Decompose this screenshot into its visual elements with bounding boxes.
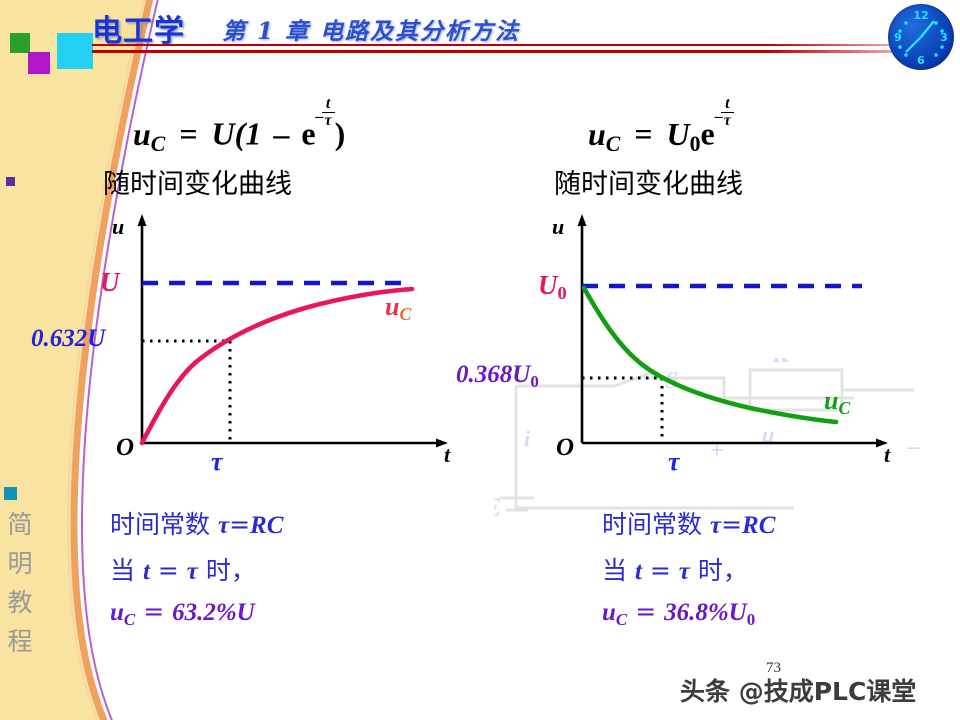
left-formula-rhs-post: ) bbox=[335, 116, 346, 152]
left-note-1-sym: τ bbox=[218, 512, 229, 539]
left-curve-label-u: u bbox=[385, 292, 399, 321]
clock-num-12: 12 bbox=[913, 9, 928, 22]
right-note-2-eq: = bbox=[650, 556, 671, 585]
sidebar-char-1: 简 bbox=[0, 505, 40, 544]
right-chart: u t O bbox=[540, 208, 900, 468]
wm-label-E: E bbox=[494, 493, 501, 522]
left-formula-eq: = bbox=[179, 116, 197, 152]
right-chart-curve bbox=[584, 288, 836, 422]
left-formula: uC = U(1 – e–tτ) bbox=[133, 100, 345, 157]
right-chart-y-arrow bbox=[578, 214, 587, 226]
right-formula-e: e bbox=[701, 116, 715, 152]
right-value-main: 0.368U bbox=[456, 361, 530, 388]
right-asym-U: U bbox=[538, 270, 558, 300]
right-note-2-sym: t bbox=[635, 558, 642, 585]
right-chart-x-label: t bbox=[884, 442, 890, 468]
left-curve-label-sub: C bbox=[399, 304, 411, 324]
channel-watermark: 头条 @技成PLC课堂 bbox=[680, 672, 916, 708]
decor-square-cyan bbox=[57, 33, 93, 69]
slide-canvas: 简 明 教 程 电工学 第 1 章 电路及其分析方法 12 3 6 9 bbox=[0, 0, 960, 720]
right-chart-origin-label: O bbox=[556, 434, 574, 462]
right-note-1-rhs: RC bbox=[742, 512, 775, 539]
left-note-1-cn: 时间常数 bbox=[110, 510, 210, 539]
left-note-2-eq: = bbox=[158, 556, 179, 585]
right-chart-asymptote-label: U0 bbox=[538, 270, 567, 304]
sidebar-char-3: 教 bbox=[0, 583, 40, 622]
left-chart-x-label: t bbox=[444, 442, 450, 468]
header-rule-bottom bbox=[92, 50, 960, 53]
left-note-3-rhs: 63.2%U bbox=[172, 599, 255, 626]
right-formula-eq: = bbox=[634, 116, 652, 152]
left-caption: 随时间变化曲线 bbox=[103, 162, 292, 201]
left-note-2-sym: t bbox=[143, 558, 150, 585]
right-note-3: uC = 36.8%U0 bbox=[602, 597, 755, 630]
bullet-square-teal bbox=[4, 487, 17, 500]
left-note-1: 时间常数 τ=RC bbox=[110, 505, 283, 541]
right-note-1-cn: 时间常数 bbox=[602, 510, 702, 539]
header-rule-top bbox=[92, 44, 960, 46]
right-chart-value-label: 0.368U0 bbox=[456, 361, 539, 392]
right-note-1-eq: = bbox=[721, 510, 742, 539]
decor-square-green bbox=[10, 33, 30, 53]
right-formula-rhs-pre: U0 bbox=[667, 116, 701, 152]
left-note-3-lhs: uC bbox=[110, 599, 135, 626]
clock-num-3: 3 bbox=[940, 31, 948, 44]
clock-icon: 12 3 6 9 bbox=[888, 4, 954, 70]
clock-num-6: 6 bbox=[917, 54, 925, 67]
right-curve-label-u: u bbox=[824, 386, 838, 415]
sidebar-vertical-title: 简 明 教 程 bbox=[0, 505, 40, 661]
wm-label-minus: – bbox=[907, 434, 920, 460]
left-note-1-rhs: RC bbox=[250, 512, 283, 539]
sidebar-char-4: 程 bbox=[0, 622, 40, 661]
right-curve-label-sub: C bbox=[838, 398, 850, 418]
left-note-1-eq: = bbox=[229, 510, 250, 539]
right-note-3-eq: = bbox=[635, 597, 656, 626]
right-chart-tau-label: τ bbox=[668, 447, 680, 477]
right-value-sub: 0 bbox=[530, 372, 539, 391]
right-note-2-rhs: τ bbox=[679, 558, 690, 585]
left-note-2-rhs: τ bbox=[187, 558, 198, 585]
right-formula-uc: uC bbox=[588, 116, 620, 152]
left-chart-origin-label: O bbox=[116, 434, 134, 462]
left-formula-exponent: tτ bbox=[322, 96, 335, 130]
left-formula-exp-den: τ bbox=[322, 112, 335, 129]
right-chart-y-label: u bbox=[552, 214, 564, 240]
right-note-1: 时间常数 τ=RC bbox=[602, 505, 775, 541]
left-chart: u t O bbox=[100, 208, 460, 468]
left-note-2-cn: 当 bbox=[110, 556, 135, 585]
left-formula-minus: – bbox=[273, 116, 289, 152]
left-chart-curve-label: uC bbox=[385, 292, 411, 325]
left-formula-uc: uC bbox=[133, 116, 165, 152]
left-formula-rhs-pre: U(1 bbox=[212, 116, 262, 152]
wm-label-i: i bbox=[524, 426, 531, 451]
bullet-square-purple bbox=[6, 177, 15, 186]
left-note-2-tail: 时， bbox=[206, 556, 256, 585]
left-note-3-eq: = bbox=[143, 597, 164, 626]
right-formula-exponent: tτ bbox=[721, 96, 734, 130]
left-formula-exp-num: t bbox=[322, 96, 335, 112]
right-asym-sub: 0 bbox=[558, 283, 567, 303]
clock-num-9: 9 bbox=[894, 31, 902, 44]
left-chart-y-label: u bbox=[112, 214, 124, 240]
right-formula-exp-num: t bbox=[721, 96, 734, 112]
left-chart-curve bbox=[142, 289, 412, 443]
right-formula: uC = U0e–tτ bbox=[588, 100, 734, 157]
right-note-3-lhs: uC bbox=[602, 599, 627, 626]
right-note-2: 当 t = τ 时， bbox=[602, 551, 748, 587]
right-note-2-tail: 时， bbox=[698, 556, 748, 585]
left-note-2: 当 t = τ 时， bbox=[110, 551, 256, 587]
left-formula-e: e bbox=[301, 116, 315, 152]
left-chart-tau-label: τ bbox=[211, 447, 223, 477]
left-chart-asymptote-label: U bbox=[100, 267, 120, 298]
left-chart-y-arrow bbox=[138, 214, 147, 226]
decor-square-magenta bbox=[28, 52, 50, 74]
left-chart-value-label: 0.632U bbox=[31, 325, 105, 353]
right-note-2-cn: 当 bbox=[602, 556, 627, 585]
sidebar-char-2: 明 bbox=[0, 544, 40, 583]
left-note-3: uC = 63.2%U bbox=[110, 597, 255, 630]
right-note-3-rhs: 36.8%U0 bbox=[664, 599, 755, 626]
right-note-1-sym: τ bbox=[710, 512, 721, 539]
chapter-title: 第 1 章 电路及其分析方法 bbox=[222, 12, 520, 46]
right-chart-curve-label: uC bbox=[824, 386, 850, 419]
right-caption: 随时间变化曲线 bbox=[554, 162, 743, 201]
right-formula-exp-den: τ bbox=[721, 112, 734, 129]
